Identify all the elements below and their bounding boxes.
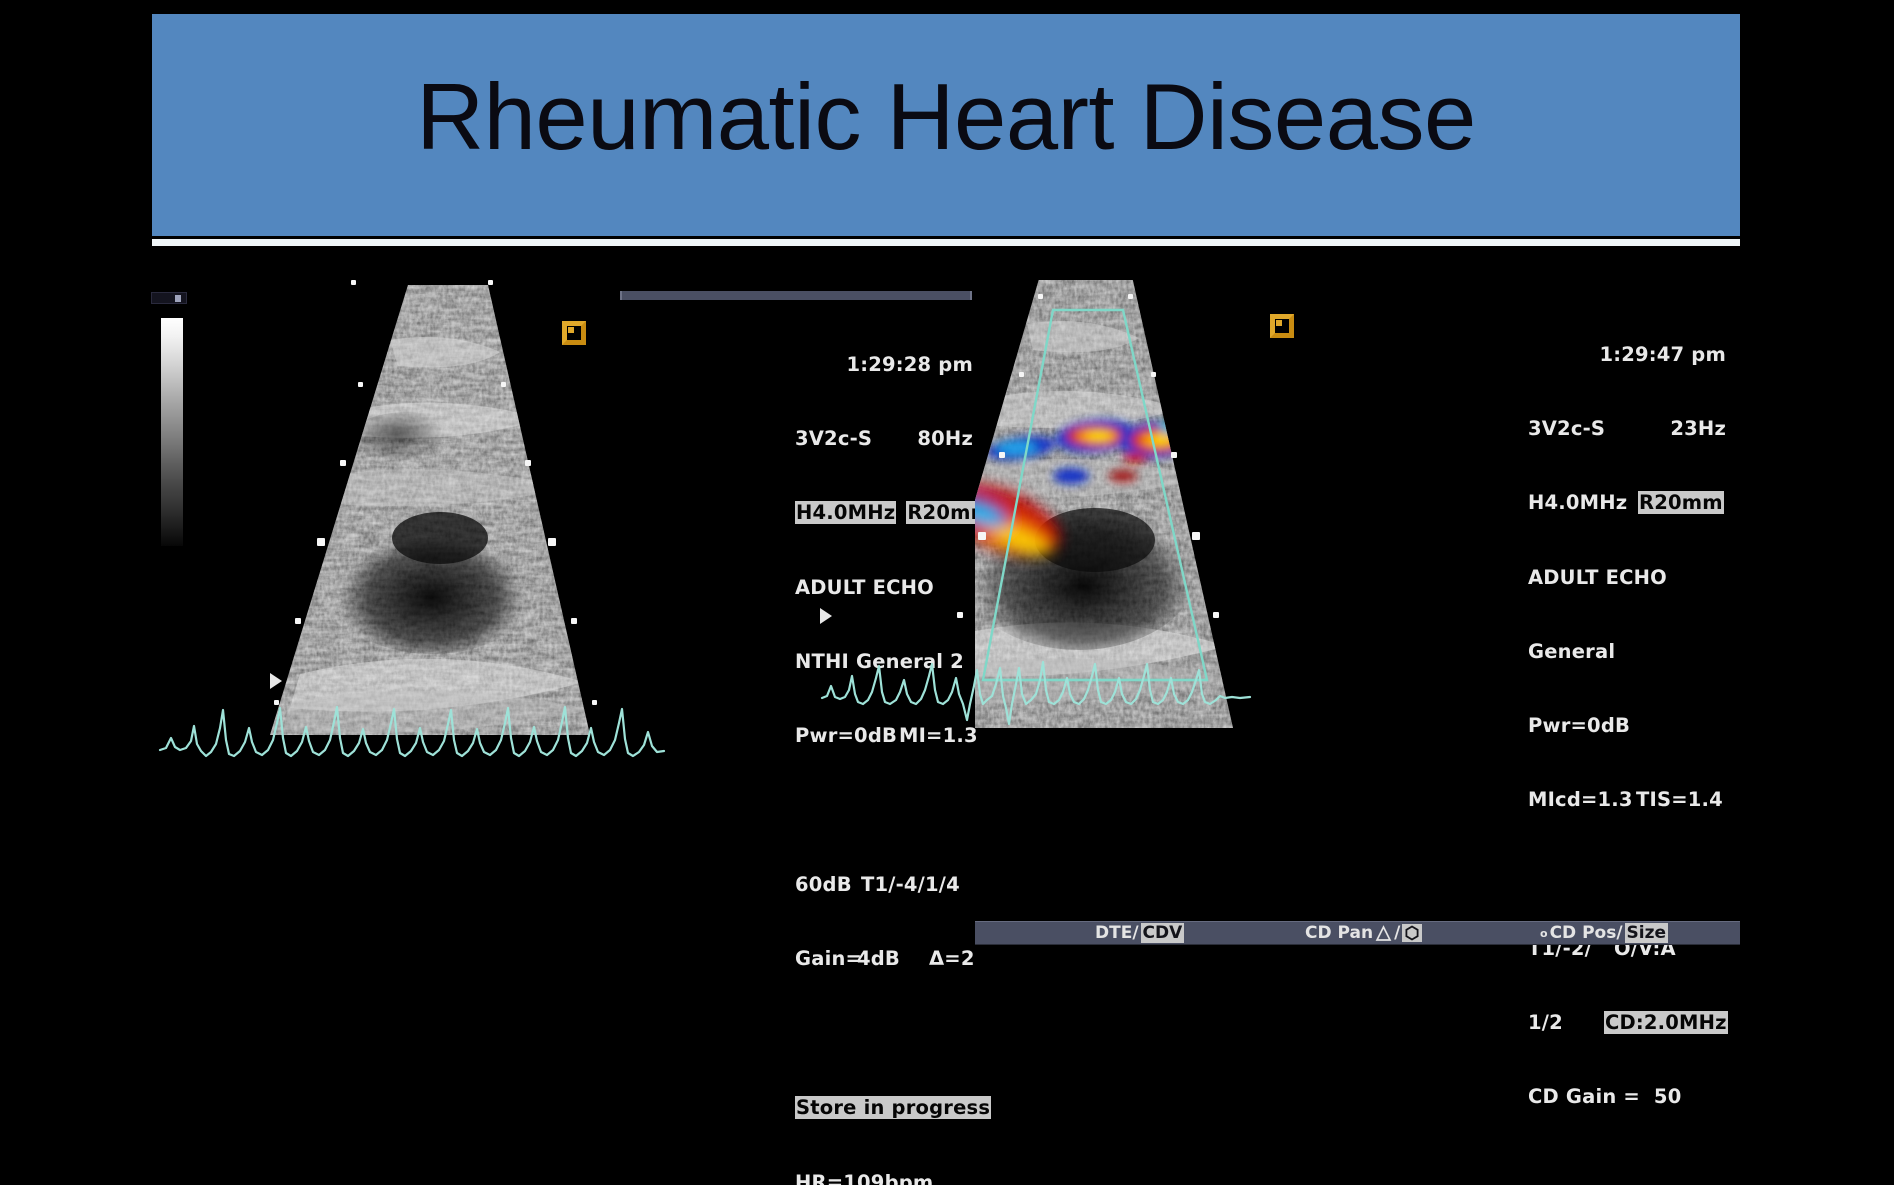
- depth-marker-dot: [1151, 372, 1156, 377]
- slide-canvas: Rheumatic Heart Disease: [0, 0, 1894, 1185]
- left-dynamic-range: 60dB: [795, 873, 861, 898]
- depth-marker-dot: [957, 612, 963, 618]
- right-cd-frequency: CD:2.0MHz: [1604, 1011, 1728, 1034]
- depth-marker-dot: [358, 382, 363, 387]
- left-store-status: Store in progress: [795, 1096, 991, 1119]
- sector-edge-cursor-icon: [820, 608, 832, 624]
- depth-marker-dot: [571, 618, 577, 624]
- right-depth: R20mm: [1638, 491, 1724, 514]
- softkey-3-superscript: o: [1540, 927, 1548, 940]
- triangle-icon: [1375, 925, 1392, 942]
- left-frequency: H4.0MHz: [795, 501, 896, 524]
- left-gain-value: 4dB: [857, 947, 929, 972]
- depth-marker-dot: [351, 280, 356, 285]
- right-preset: General: [1528, 640, 1728, 665]
- depth-marker-dot: [1192, 532, 1200, 540]
- right-transducer: 3V2c-S: [1528, 417, 1634, 442]
- left-tgc: T1/-4/1/4: [861, 873, 960, 896]
- depth-marker-dot: [1019, 372, 1024, 377]
- page-title: Rheumatic Heart Disease: [416, 63, 1476, 171]
- preset-indicator-icon: [151, 292, 187, 304]
- info-header-slab: [620, 291, 972, 300]
- left-ecg-trace: [158, 698, 668, 788]
- hexagon-icon: [1402, 924, 1422, 942]
- left-timestamp: 1:29:28 pm: [795, 353, 973, 378]
- right-mi-cd: MIcd=1.3: [1528, 788, 1636, 813]
- depth-marker-dot: [501, 382, 506, 387]
- grayscale-wedge-icon: [161, 318, 183, 546]
- depth-marker-dot: [295, 618, 301, 624]
- softkey-3-prefix: CD Pos/: [1550, 923, 1623, 943]
- title-banner: Rheumatic Heart Disease: [152, 14, 1740, 236]
- right-ecg-trace: [820, 656, 1260, 736]
- softkey-toolbar: DTE/CDV CD Pan / oCD Pos/Size: [975, 921, 1740, 945]
- right-power: Pwr=0dB: [1528, 714, 1728, 739]
- right-panel-info-block: 1:29:47 pm 3V2c-S23Hz H4.0MHzR20mm ADULT…: [1528, 294, 1728, 1185]
- title-underline-rule: [152, 239, 1740, 246]
- softkey-dte-cdv[interactable]: DTE/CDV: [1095, 923, 1184, 943]
- softkey-2-separator: /: [1394, 923, 1400, 943]
- depth-marker-dot: [525, 460, 531, 466]
- depth-marker-dot: [1128, 294, 1133, 299]
- right-exam: ADULT ECHO: [1528, 566, 1728, 591]
- right-tis: TIS=1.4: [1636, 788, 1723, 811]
- softkey-cd-pos-size[interactable]: oCD Pos/Size: [1540, 923, 1668, 943]
- depth-marker-dot: [978, 532, 986, 540]
- right-frame-rate: 23Hz: [1634, 417, 1726, 442]
- orientation-marker-icon: [562, 321, 586, 345]
- depth-marker-dot: [317, 538, 325, 546]
- softkey-1-highlight: CDV: [1141, 923, 1185, 943]
- orientation-marker-icon: [1270, 314, 1294, 338]
- right-cd-gain: CD Gain = 50: [1528, 1085, 1728, 1110]
- right-frequency: H4.0MHz: [1528, 491, 1638, 516]
- softkey-2-prefix: CD Pan: [1305, 923, 1373, 943]
- left-heart-rate: HR=109bpm: [795, 1171, 992, 1185]
- left-exam: ADULT ECHO: [795, 576, 992, 601]
- left-frame-rate: 80Hz: [887, 427, 973, 452]
- right-timestamp: 1:29:47 pm: [1528, 343, 1726, 368]
- left-delta: Δ=2: [929, 947, 975, 970]
- softkey-1-prefix: DTE/: [1095, 923, 1139, 943]
- depth-marker-dot: [340, 460, 346, 466]
- softkey-cd-pan[interactable]: CD Pan /: [1305, 923, 1422, 943]
- sector-edge-cursor-icon: [270, 673, 282, 689]
- depth-marker-dot: [999, 452, 1005, 458]
- left-transducer: 3V2c-S: [795, 427, 887, 452]
- left-panel-info-block: 1:29:28 pm 3V2c-S80Hz H4.0MHzR20mm ADULT…: [795, 304, 992, 1185]
- right-persistence: 1/2: [1528, 1011, 1604, 1036]
- depth-marker-dot: [488, 280, 493, 285]
- depth-marker-dot: [1038, 294, 1043, 299]
- depth-marker-dot: [1213, 612, 1219, 618]
- depth-marker-dot: [1171, 452, 1177, 458]
- left-gain-label: Gain=: [795, 947, 857, 972]
- softkey-3-highlight: Size: [1625, 923, 1669, 943]
- depth-marker-dot: [548, 538, 556, 546]
